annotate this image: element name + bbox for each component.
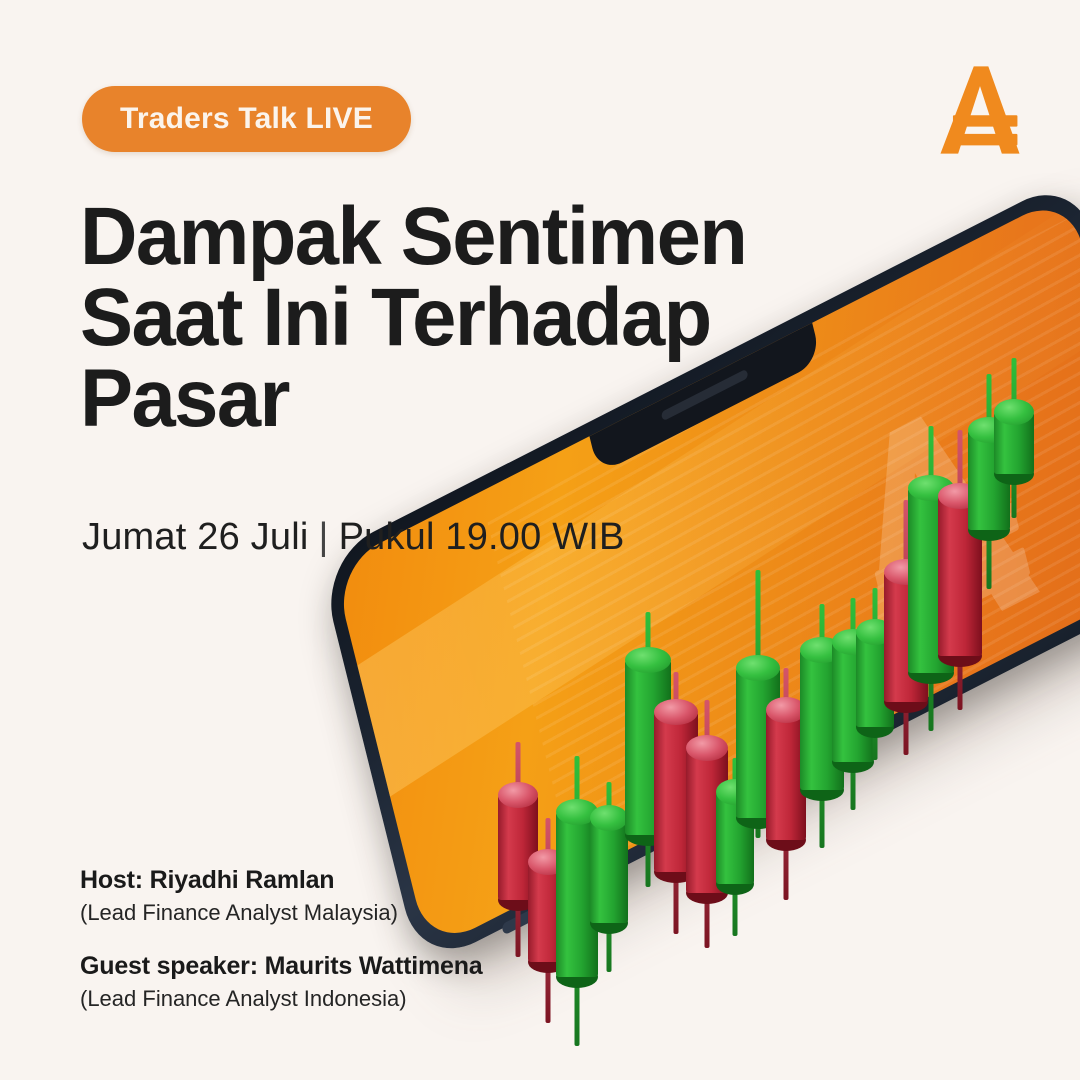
host-name: Host: Riyadhi Ramlan — [80, 866, 483, 895]
guest-role: (Lead Finance Analyst Indonesia) — [80, 986, 483, 1012]
headline-line-1: Dampak Sentimen — [80, 196, 817, 277]
speaker-credits: Host: Riyadhi Ramlan (Lead Finance Analy… — [80, 866, 483, 1038]
brand-logo — [928, 58, 1032, 162]
datetime-separator: | — [318, 516, 328, 558]
letter-a-currency-logo-icon — [928, 58, 1032, 162]
credit-item: Host: Riyadhi Ramlan (Lead Finance Analy… — [80, 866, 483, 926]
event-time: Pukul 19.00 WIB — [339, 516, 625, 558]
live-badge: Traders Talk LIVE — [82, 86, 411, 152]
page-title: Dampak Sentimen Saat Ini Terhadap Pasar — [80, 196, 817, 440]
headline-line-3: Pasar — [80, 358, 817, 439]
event-datetime: Jumat 26 Juli|Pukul 19.00 WIB — [82, 516, 625, 559]
live-badge-label: Traders Talk LIVE — [120, 102, 373, 136]
credit-item: Guest speaker: Maurits Wattimena (Lead F… — [80, 952, 483, 1012]
host-role: (Lead Finance Analyst Malaysia) — [80, 900, 483, 926]
guest-name: Guest speaker: Maurits Wattimena — [80, 952, 483, 981]
poster-canvas: Traders Talk LIVE Dampak Sentimen Saat I… — [0, 0, 1080, 1080]
event-date: Jumat 26 Juli — [82, 516, 308, 558]
headline-line-2: Saat Ini Terhadap — [80, 277, 817, 358]
